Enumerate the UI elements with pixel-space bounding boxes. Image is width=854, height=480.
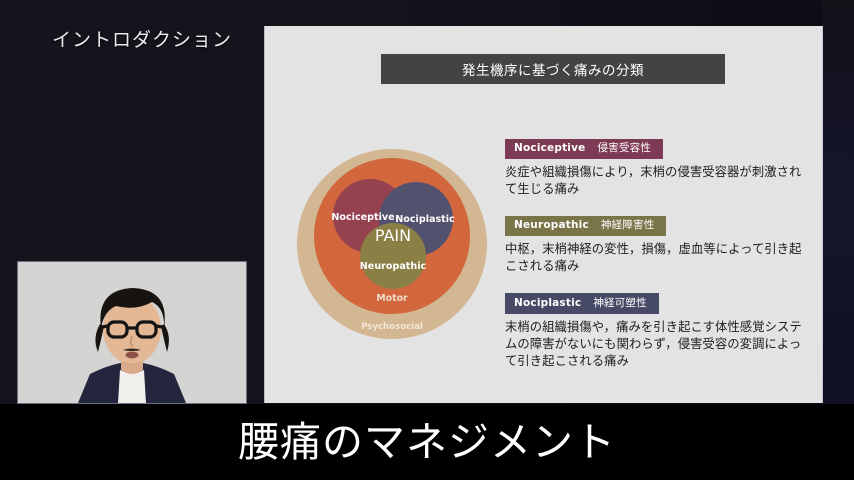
- badge-nociceptive-ja: 侵害受容性: [597, 142, 651, 154]
- pain-category-nociplastic: Nociplastic神経可塑性 末梢の組織損傷や，痛みを引き起こす体性感覚シス…: [505, 291, 807, 371]
- badge-nociceptive: Nociceptive侵害受容性: [505, 139, 663, 159]
- pain-category-list: Nociceptive侵害受容性 炎症や組織損傷により，末梢の侵害受容器が刺激さ…: [505, 136, 807, 371]
- pain-category-nociceptive: Nociceptive侵害受容性 炎症や組織損傷により，末梢の侵害受容器が刺激さ…: [505, 136, 807, 198]
- pain-venn-diagram: Nociceptive Nociplastic Neuropathic PAIN…: [297, 143, 487, 345]
- venn-label-nociceptive: Nociceptive: [331, 212, 395, 223]
- badge-nociplastic-en: Nociplastic: [514, 297, 581, 309]
- slide-panel: 発生機序に基づく痛みの分類 Nociceptive Nociplastic Ne…: [265, 26, 822, 403]
- caption-bar: 腰痛のマネジメント: [0, 404, 854, 480]
- badge-nociplastic: Nociplastic神経可塑性: [505, 293, 659, 313]
- venn-label-pain: PAIN: [375, 226, 411, 245]
- venn-label-neuropathic: Neuropathic: [360, 261, 427, 272]
- video-backdrop-right-band: [822, 0, 854, 404]
- presenter-video: [18, 262, 246, 403]
- slide-header: 発生機序に基づく痛みの分類: [381, 54, 725, 84]
- section-title: イントロダクション: [52, 25, 232, 52]
- venn-label-nociplastic: Nociplastic: [395, 214, 455, 225]
- venn-label-psychosocial: Psychosocial: [361, 322, 423, 332]
- badge-neuropathic-en: Neuropathic: [514, 219, 589, 231]
- badge-nociplastic-ja: 神経可塑性: [593, 297, 647, 309]
- caption-text: 腰痛のマネジメント: [238, 422, 616, 463]
- pain-category-neuropathic-body: 中枢，末梢神経の変性，損傷，虚血等によって引き起こされる痛み: [505, 241, 805, 276]
- pain-category-neuropathic: Neuropathic神経障害性 中枢，末梢神経の変性，損傷，虚血等によって引き…: [505, 213, 807, 275]
- slide-header-text: 発生機序に基づく痛みの分類: [462, 59, 644, 79]
- pain-category-nociplastic-body: 末梢の組織損傷や，痛みを引き起こす体性感覚システムの障害がないにも関わらず，侵害…: [505, 319, 805, 371]
- badge-nociceptive-en: Nociceptive: [514, 142, 585, 154]
- venn-label-motor: Motor: [376, 293, 408, 304]
- pain-category-nociceptive-body: 炎症や組織損傷により，末梢の侵害受容器が刺激されて生じる痛み: [505, 164, 805, 199]
- badge-neuropathic-ja: 神経障害性: [601, 219, 655, 231]
- badge-neuropathic: Neuropathic神経障害性: [505, 216, 666, 236]
- video-frame: イントロダクション 発生機序に基づく痛みの分類 Nociceptive Noci…: [0, 0, 854, 480]
